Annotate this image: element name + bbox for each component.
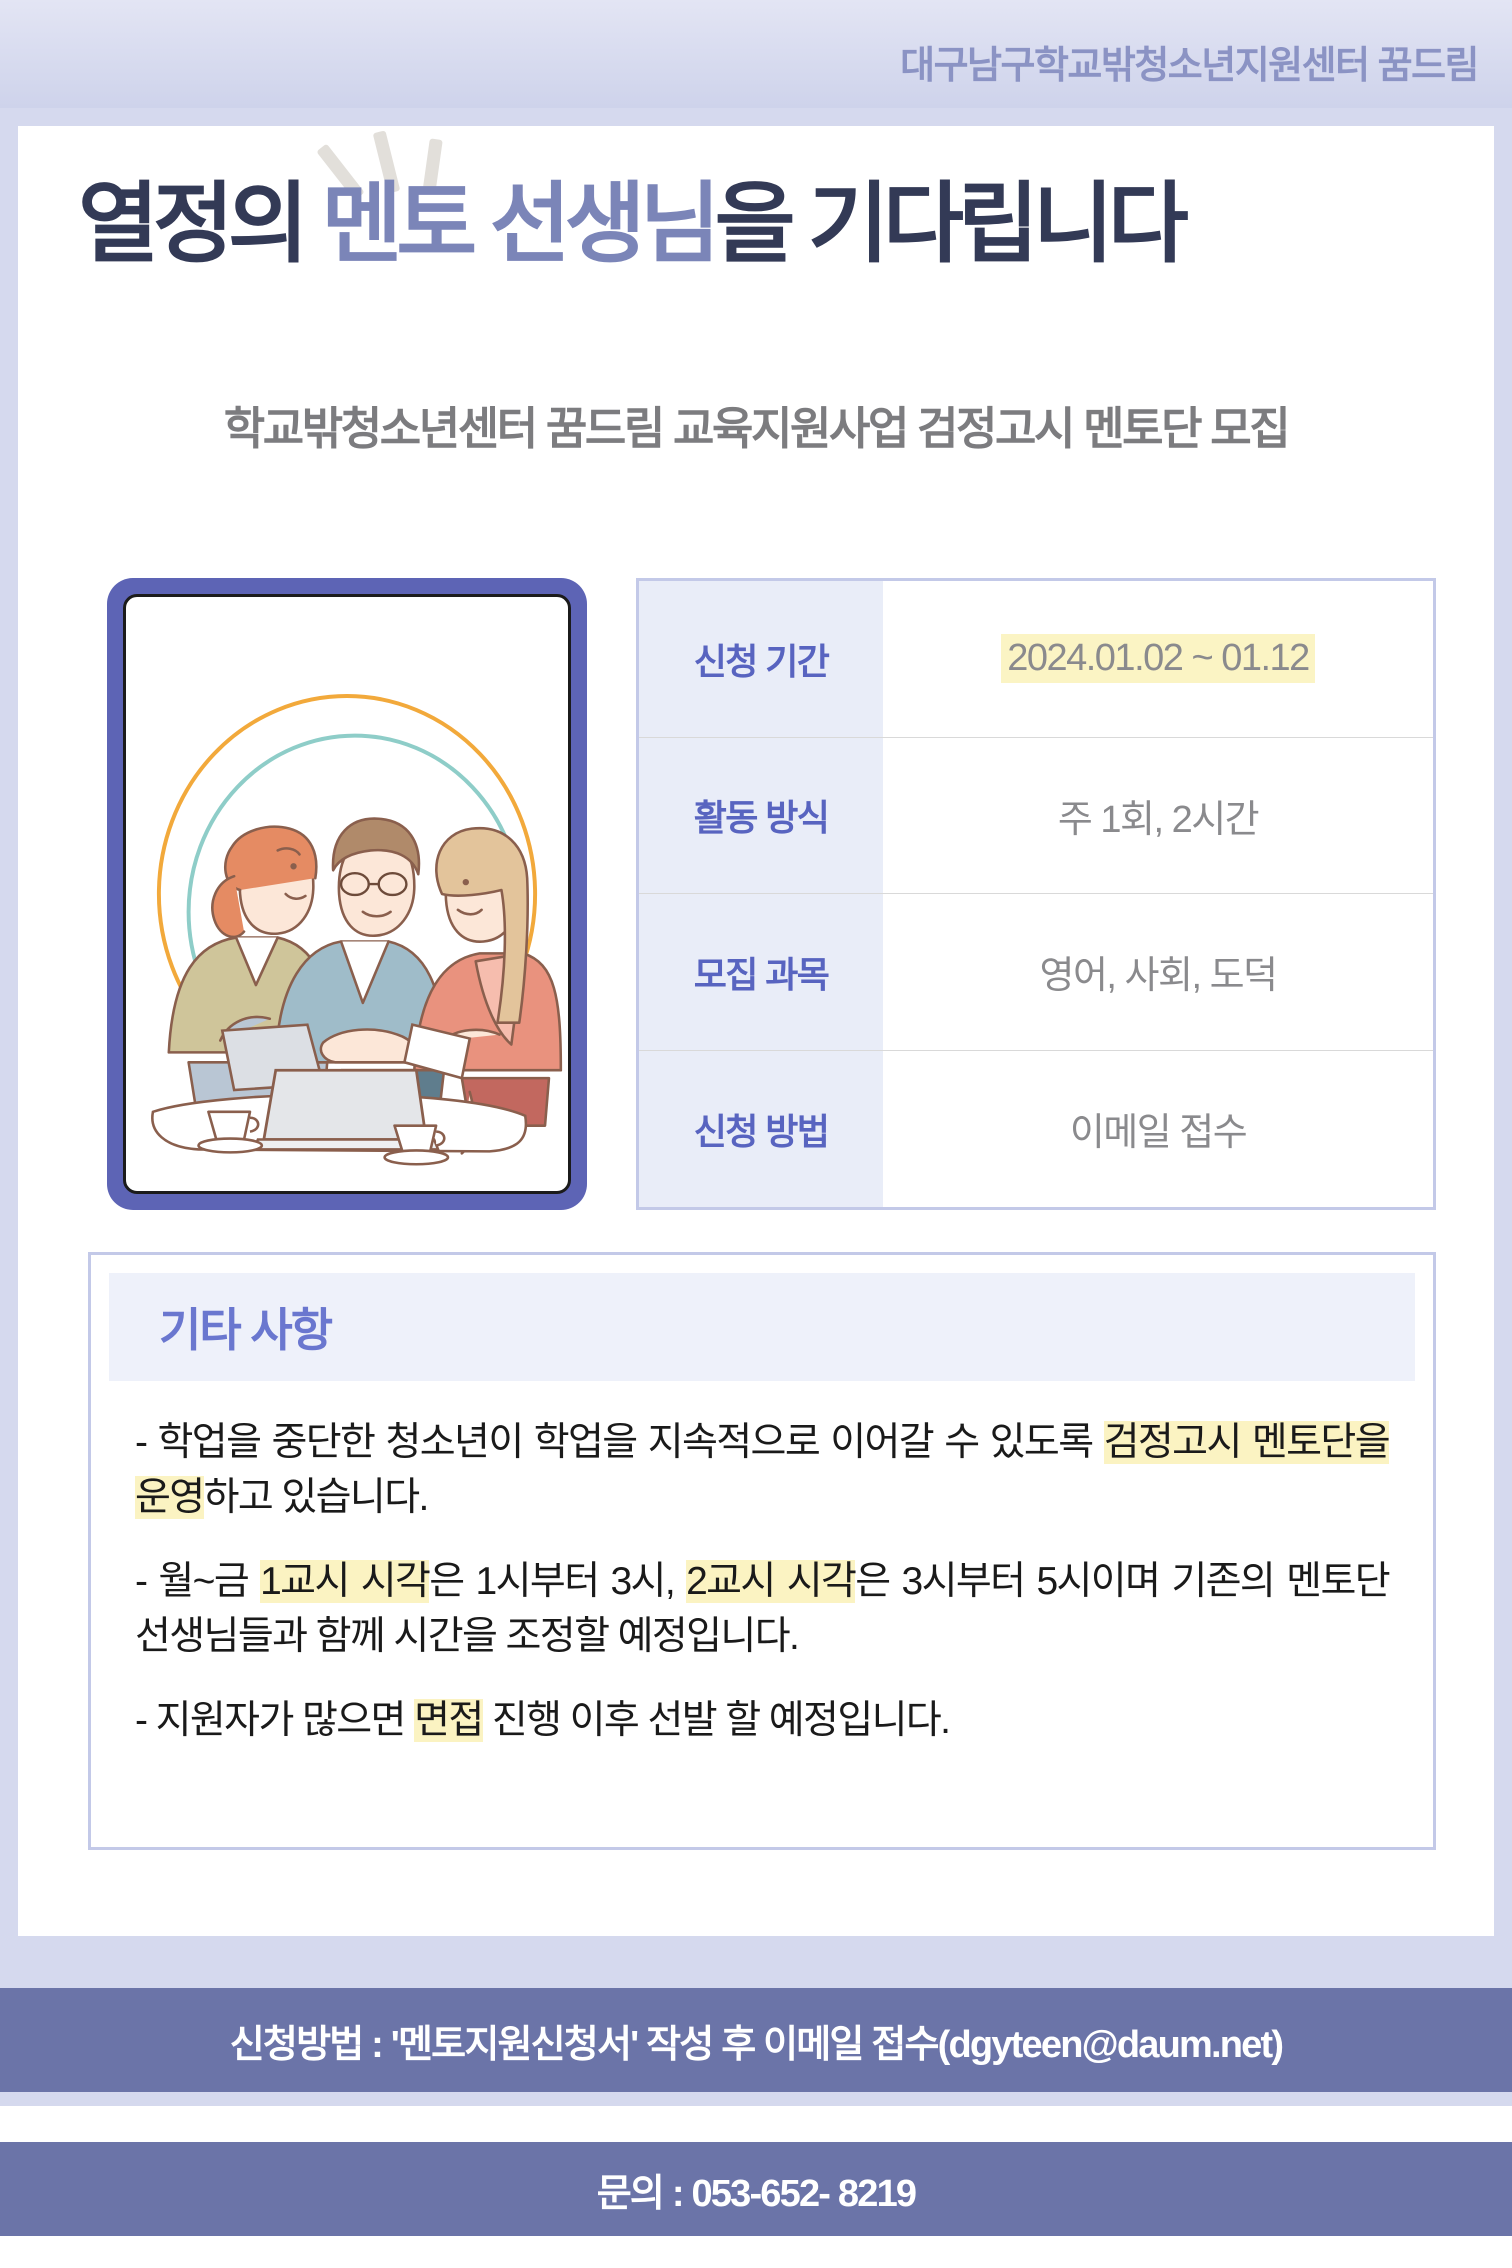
note-text: - 월~금 (135, 1560, 260, 1603)
note-item: - 월~금 1교시 시각은 1시부터 3시, 2교시 시각은 3시부터 5시이며… (135, 1554, 1389, 1665)
highlighted-text: 1교시 시각 (260, 1560, 429, 1603)
main-title: 열정의 멘토 선생님을 기다립니다 (18, 180, 1494, 340)
note-text: 진행 이후 선발 할 예정입니다. (483, 1699, 950, 1742)
info-label-subjects: 모집 과목 (639, 894, 883, 1050)
note-text: 하고 있습니다. (204, 1476, 428, 1519)
footer-bottom-white (0, 2236, 1512, 2268)
title-part-4: 기다립니다 (808, 174, 1183, 273)
footer-tel-bar: 문의 : 053-652- 8219 (0, 2142, 1512, 2236)
notes-card: 기타 사항 - 학업을 중단한 청소년이 학업을 지속적으로 이어갈 수 있도록… (88, 1252, 1436, 1850)
illustration-frame (123, 594, 571, 1194)
organization-name: 대구남구학교밖청소년지원센터 꿈드림 (900, 34, 1478, 89)
notes-body: - 학업을 중단한 청소년이 학업을 지속적으로 이어갈 수 있도록 검정고시 … (91, 1381, 1433, 1748)
title-part-3: 을 (715, 174, 790, 273)
highlighted-text: 2교시 시각 (686, 1560, 855, 1603)
note-text: - 지원자가 많으면 (135, 1699, 414, 1742)
footer-gap-mid (0, 2092, 1512, 2106)
info-value-activity-method: 주 1회, 2시간 (883, 738, 1433, 894)
illustration-card (107, 578, 587, 1210)
info-label-apply-method: 신청 방법 (639, 1051, 883, 1208)
footer-gap-top (0, 1948, 1512, 1988)
note-text: 은 1시부터 3시, (429, 1560, 686, 1603)
info-table: 신청 기간 2024.01.02 ~ 01.12 활동 방식 주 1회, 2시간… (636, 578, 1436, 1210)
table-row: 신청 기간 2024.01.02 ~ 01.12 (639, 581, 1433, 738)
subtitle: 학교밖청소년센터 꿈드림 교육지원사업 검정고시 멘토단 모집 (18, 392, 1494, 457)
table-row: 모집 과목 영어, 사회, 도덕 (639, 894, 1433, 1051)
footer-tel-text: 문의 : 053-652- 8219 (597, 2162, 916, 2217)
meeting-illustration (126, 597, 568, 1191)
notes-heading: 기타 사항 (159, 1294, 331, 1360)
note-item: - 지원자가 많으면 면접 진행 이후 선발 할 예정입니다. (135, 1693, 1389, 1748)
header-band: 대구남구학교밖청소년지원센터 꿈드림 (0, 0, 1512, 118)
highlighted-text: 면접 (414, 1699, 483, 1742)
info-label-activity-method: 활동 방식 (639, 738, 883, 894)
title-part-1: 열정의 (78, 174, 303, 273)
info-value-apply-method: 이메일 접수 (883, 1051, 1433, 1208)
info-label-application-period: 신청 기간 (639, 581, 883, 737)
info-value-subjects: 영어, 사회, 도덕 (883, 894, 1433, 1050)
footer-white-gap (0, 2106, 1512, 2142)
title-part-2: 멘토 선생님 (321, 174, 714, 273)
poster-root: 대구남구학교밖청소년지원센터 꿈드림 열정의 멘토 선생님을 기다립니다 학교밖… (0, 0, 1512, 2268)
highlighted-date: 2024.01.02 ~ 01.12 (1001, 634, 1315, 683)
table-row: 활동 방식 주 1회, 2시간 (639, 738, 1433, 895)
footer-apply-bar: 신청방법 : '멘토지원신청서' 작성 후 이메일 접수(dgyteen@dau… (0, 1988, 1512, 2092)
info-value-application-period: 2024.01.02 ~ 01.12 (883, 581, 1433, 737)
table-row: 신청 방법 이메일 접수 (639, 1051, 1433, 1208)
notes-header: 기타 사항 (109, 1273, 1415, 1381)
main-title-line: 열정의 멘토 선생님을 기다립니다 (78, 180, 1183, 268)
note-text: - 학업을 중단한 청소년이 학업을 지속적으로 이어갈 수 있도록 (135, 1421, 1104, 1464)
note-item: - 학업을 중단한 청소년이 학업을 지속적으로 이어갈 수 있도록 검정고시 … (135, 1415, 1389, 1526)
footer-apply-text: 신청방법 : '멘토지원신청서' 작성 후 이메일 접수(dgyteen@dau… (230, 2013, 1282, 2068)
